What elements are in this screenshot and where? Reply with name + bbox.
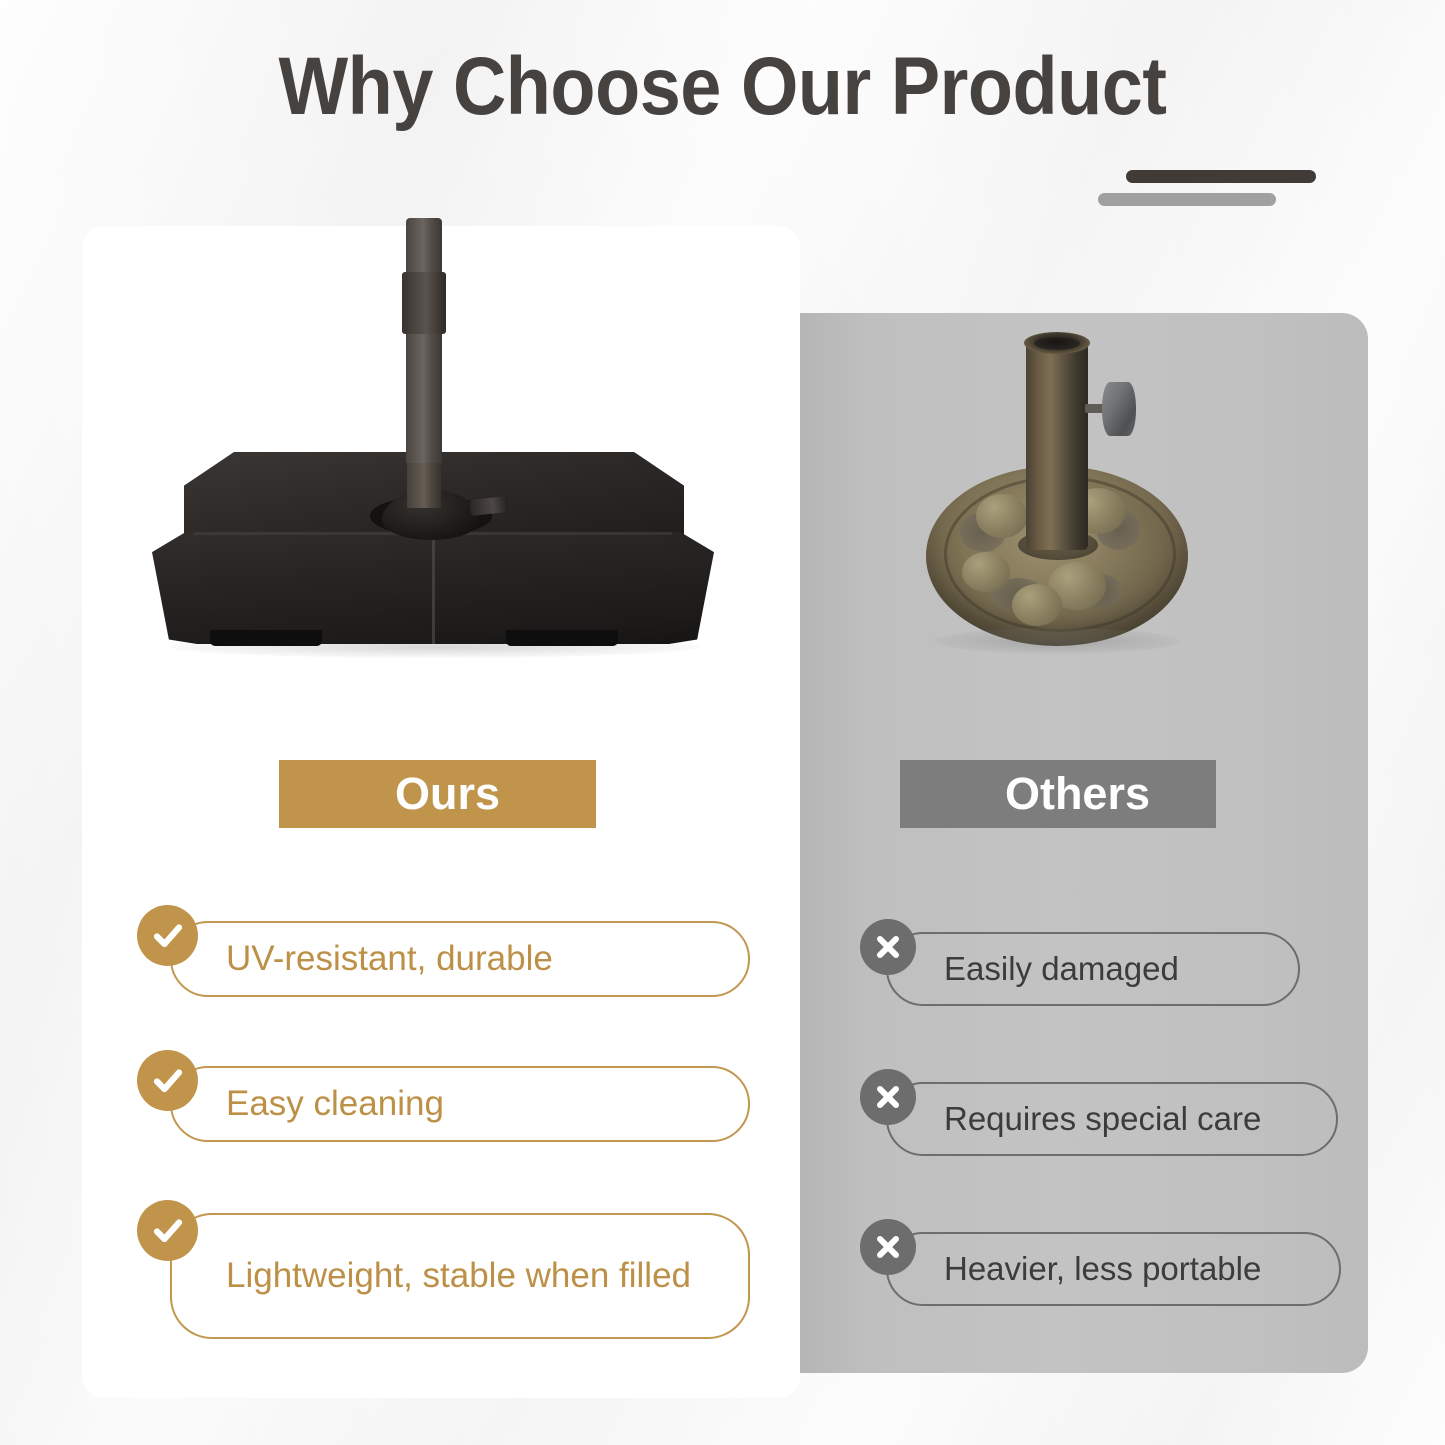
others-feature-text: Easily damaged bbox=[944, 950, 1179, 988]
umbrella-pole-upper bbox=[406, 218, 442, 463]
ours-label-bar: Ours bbox=[279, 760, 596, 828]
iron-tube-bore bbox=[1034, 337, 1080, 350]
infographic-canvas: Why Choose Our Product bbox=[0, 0, 1445, 1445]
others-label-bar: Others bbox=[900, 760, 1216, 828]
ours-feature-pill: Lightweight, stable when filled bbox=[170, 1213, 750, 1339]
check-icon bbox=[137, 905, 198, 966]
ours-feature-pill: UV-resistant, durable bbox=[170, 921, 750, 997]
title-accent-bars bbox=[1098, 170, 1318, 218]
ours-feature-text: Easy cleaning bbox=[226, 1084, 444, 1124]
ours-feature-text: UV-resistant, durable bbox=[226, 939, 553, 979]
others-product-shadow bbox=[934, 628, 1180, 654]
others-feature-pill: Heavier, less portable bbox=[886, 1232, 1341, 1306]
others-feature-text: Heavier, less portable bbox=[944, 1250, 1261, 1288]
ours-label-text: Ours bbox=[395, 768, 500, 820]
x-icon bbox=[860, 1219, 916, 1275]
accent-bar-light bbox=[1098, 193, 1276, 206]
x-icon bbox=[860, 919, 916, 975]
others-feature-pill: Requires special care bbox=[886, 1082, 1338, 1156]
others-label-text: Others bbox=[1005, 768, 1150, 820]
resin-base-foot bbox=[506, 630, 618, 646]
umbrella-pole-collar bbox=[402, 272, 446, 334]
resin-base-foot bbox=[210, 630, 322, 646]
thumbscrew-knob bbox=[1102, 382, 1136, 436]
iron-floral-motif bbox=[976, 494, 1028, 538]
others-feature-text: Requires special care bbox=[944, 1100, 1261, 1138]
page-title: Why Choose Our Product bbox=[72, 46, 1373, 128]
ours-feature-pill: Easy cleaning bbox=[170, 1066, 750, 1142]
ours-feature-text: Lightweight, stable when filled bbox=[226, 1254, 691, 1298]
iron-floral-motif bbox=[962, 552, 1010, 592]
iron-floral-motif bbox=[1012, 584, 1062, 626]
ours-product-image bbox=[82, 160, 800, 720]
iron-pole-tube bbox=[1026, 338, 1088, 550]
check-icon bbox=[137, 1050, 198, 1111]
accent-bar-dark bbox=[1126, 170, 1316, 183]
others-product-image bbox=[900, 316, 1230, 716]
others-feature-pill: Easily damaged bbox=[886, 932, 1300, 1006]
x-icon bbox=[860, 1069, 916, 1125]
check-icon bbox=[137, 1200, 198, 1261]
